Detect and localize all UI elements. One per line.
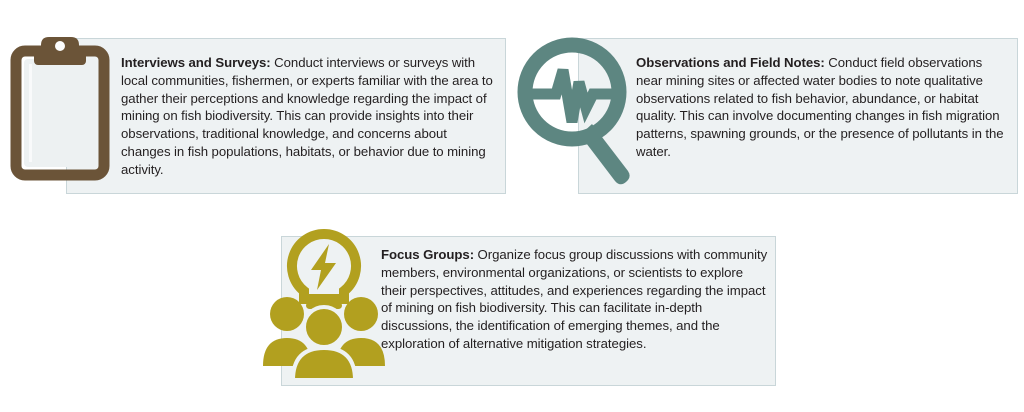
- card-focus-groups-text: Focus Groups: Organize focus group discu…: [381, 246, 771, 353]
- card-observations-heading: Observations and Field Notes:: [636, 55, 825, 70]
- card-observations-text: Observations and Field Notes: Conduct fi…: [636, 54, 1006, 161]
- infographic-canvas: Interviews and Surveys: Conduct intervie…: [0, 0, 1024, 412]
- focus-group-idea-icon: [263, 228, 385, 388]
- card-observations-body: Conduct field observations near mining s…: [636, 55, 1004, 159]
- clipboard-icon: [8, 33, 112, 185]
- card-interviews-heading: Interviews and Surveys:: [121, 55, 271, 70]
- magnifier-pulse-icon: [516, 30, 638, 190]
- card-interviews-body: Conduct interviews or surveys with local…: [121, 55, 493, 177]
- card-focus-groups-body: Organize focus group discussions with co…: [381, 247, 767, 351]
- card-interviews-text: Interviews and Surveys: Conduct intervie…: [121, 54, 496, 178]
- card-focus-groups-heading: Focus Groups:: [381, 247, 474, 262]
